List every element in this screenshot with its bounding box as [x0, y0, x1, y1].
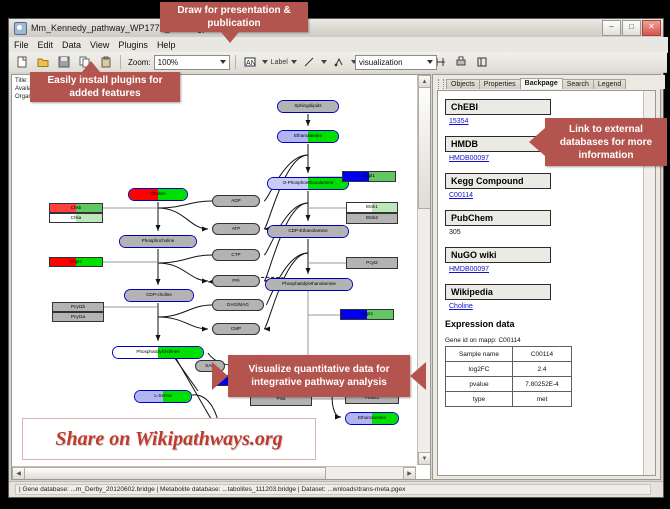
- callout-draw-arrow: [221, 32, 239, 43]
- print-icon[interactable]: [452, 53, 470, 71]
- toolbar-separator: [120, 55, 121, 69]
- layout-icon[interactable]: [473, 53, 491, 71]
- visualization-value: visualization: [359, 58, 403, 67]
- menu-help[interactable]: Help: [157, 40, 176, 50]
- cofactor-node-adp[interactable]: ADP: [212, 195, 260, 207]
- vertical-scroll-thumb[interactable]: [418, 87, 431, 209]
- node-label: Choline: [150, 192, 166, 197]
- metabolite-node-o-phosphoethanolamine[interactable]: O-Phosphoethanolamine: [267, 177, 349, 190]
- tab-search[interactable]: Search: [562, 79, 594, 89]
- interaction-icon[interactable]: [330, 53, 348, 71]
- pathway-canvas[interactable]: Title: Availa Organi: [12, 75, 416, 465]
- canvas-vertical-scrollbar[interactable]: ▲ ▼: [417, 75, 430, 465]
- node-label: Etnk1: [366, 205, 378, 210]
- scroll-right-button[interactable]: ▶: [403, 467, 416, 480]
- node-label: Pcyt1a: [71, 315, 85, 320]
- label-dropdown-label: Label: [271, 59, 288, 66]
- panel-drag-handle[interactable]: [438, 79, 444, 89]
- tab-legend[interactable]: Legend: [593, 79, 626, 89]
- gene-node-chka[interactable]: Chka: [49, 213, 103, 223]
- row-key: Sample name: [446, 347, 513, 362]
- table-row: type met: [446, 392, 572, 407]
- metabolite-node-phosphatidylethanolamine[interactable]: Phosphatidylethanolamine: [265, 278, 353, 291]
- pathway-edges: [12, 75, 416, 465]
- table-row: log2FC 2.4: [446, 362, 572, 377]
- table-row: pvalue 7.80252E-4: [446, 377, 572, 392]
- panel-tabs: Objects Properties Backpage Search Legen…: [433, 75, 665, 89]
- metabolite-node-ethanolamine[interactable]: Ethanolamine: [345, 412, 399, 425]
- menu-bar: File Edit Data View Plugins Help: [9, 37, 668, 53]
- expression-data-title: Expression data: [445, 319, 643, 329]
- gene-node-chpt1[interactable]: Chpt1: [49, 257, 103, 267]
- callout-links: Link to external databases for more info…: [545, 118, 667, 166]
- datanode-icon[interactable]: AN: [241, 53, 259, 71]
- row-key: type: [446, 392, 513, 407]
- scroll-down-button[interactable]: ▼: [418, 452, 431, 465]
- node-label: Pcyt1b: [71, 305, 85, 310]
- chebi-header: ChEBI: [445, 99, 551, 115]
- svg-text:AN: AN: [246, 60, 256, 67]
- chevron-down-icon-line[interactable]: [321, 60, 327, 64]
- callout-plugins-arrow: [82, 61, 100, 72]
- chevron-down-icon: [220, 60, 226, 64]
- node-label: Phosphatidylethanolamine: [282, 282, 336, 287]
- close-button[interactable]: ✕: [642, 20, 661, 36]
- app-icon: [14, 22, 27, 35]
- node-label: CTP: [231, 253, 240, 258]
- node-label: Pisd: [277, 397, 286, 402]
- row-value: 7.80252E-4: [513, 377, 572, 392]
- zoom-select[interactable]: 100%: [154, 55, 230, 70]
- visualization-select[interactable]: visualization: [355, 55, 437, 70]
- node-label: L-Serine: [154, 394, 171, 399]
- tab-objects[interactable]: Objects: [446, 79, 480, 89]
- callout-visualize: Visualize quantitative data for integrat…: [228, 355, 410, 397]
- metabolite-node-cdp-choline[interactable]: CDP-choline: [124, 289, 194, 302]
- chevron-down-icon-label[interactable]: [291, 60, 297, 64]
- menu-edit[interactable]: Edit: [38, 40, 54, 50]
- row-key: log2FC: [446, 362, 513, 377]
- gene-node-pcyt2[interactable]: Pcyt2: [346, 257, 398, 269]
- title-bar: Mm_Kennedy_pathway_WP1771_45176.gpml – □…: [9, 19, 663, 38]
- open-folder-icon[interactable]: [34, 53, 52, 71]
- node-label: PPi: [232, 279, 239, 284]
- metabolite-node-phosphocholine[interactable]: Phosphocholine: [119, 235, 197, 248]
- node-label: Ethanolamine: [294, 134, 322, 139]
- node-label: Sgpl1: [363, 174, 375, 179]
- menu-data[interactable]: Data: [62, 40, 81, 50]
- cofactor-node-ctp[interactable]: CTP: [212, 249, 260, 261]
- maximize-button[interactable]: □: [622, 20, 641, 36]
- row-value: C00114: [513, 347, 572, 362]
- toolbar-separator-2: [235, 55, 236, 69]
- new-file-icon[interactable]: [13, 53, 31, 71]
- cofactor-node-cmp[interactable]: CMP: [212, 323, 260, 335]
- wikipedia-link[interactable]: Choline: [449, 303, 643, 310]
- gene-node-pcyt1b[interactable]: Pcyt1b: [52, 302, 104, 312]
- metabolite-node-phosphatidylcholines[interactable]: Phosphatidylcholines: [112, 346, 204, 359]
- node-label: O-Phosphoethanolamine: [283, 181, 334, 186]
- chevron-down-icon-datanode[interactable]: [262, 60, 268, 64]
- cofactor-node-dag-mag[interactable]: DAG/MAG: [212, 299, 264, 311]
- line-icon[interactable]: [300, 53, 318, 71]
- zoom-label: Zoom:: [128, 58, 151, 67]
- status-text: | Gene database: ...m_Derby_20120602.bri…: [15, 484, 651, 495]
- canvas-horizontal-scrollbar[interactable]: ◀ ▶: [12, 466, 416, 479]
- toolbar: Zoom: 100% AN Label visua: [9, 52, 667, 73]
- metabolite-node-choline[interactable]: Choline: [128, 188, 188, 201]
- gene-node-cept1[interactable]: Cept1: [340, 309, 394, 320]
- horizontal-scroll-thumb[interactable]: [24, 467, 326, 480]
- node-label: Etnk2: [366, 216, 378, 221]
- callout-visualize-arrow-right: [410, 362, 426, 390]
- node-label: ATP: [232, 227, 241, 232]
- metabolite-node-ethanolamine[interactable]: Ethanolamine: [277, 130, 339, 143]
- kegg-link[interactable]: C00114: [449, 192, 643, 199]
- metabolite-node-l-serine[interactable]: L-Serine: [134, 390, 192, 403]
- kegg-header: Kegg Compound: [445, 173, 551, 189]
- status-bar: | Gene database: ...m_Derby_20120602.bri…: [9, 481, 663, 497]
- node-label: Cept1: [361, 312, 373, 317]
- node-label: Chka: [71, 216, 82, 221]
- tab-backpage[interactable]: Backpage: [520, 78, 563, 89]
- gene-node-etnk2[interactable]: Etnk2: [346, 213, 398, 224]
- cofactor-node-ppi[interactable]: PPi: [212, 275, 260, 287]
- pubchem-value: 305: [449, 229, 643, 236]
- node-label: Phosphatidylcholines: [136, 350, 179, 355]
- save-icon[interactable]: [55, 53, 73, 71]
- menu-view[interactable]: View: [90, 40, 109, 50]
- node-label: CDP-Ethanolamine: [288, 229, 327, 234]
- wikipedia-header: Wikipedia: [445, 284, 551, 300]
- menu-file[interactable]: File: [14, 40, 29, 50]
- tab-properties[interactable]: Properties: [479, 79, 521, 89]
- callout-share: Share on Wikipathways.org: [22, 418, 316, 460]
- node-label: ADP: [231, 199, 240, 204]
- gene-node-sgpl1[interactable]: Sgpl1: [342, 171, 396, 182]
- gene-node-pcyt1a[interactable]: Pcyt1a: [52, 312, 104, 322]
- minimize-button[interactable]: –: [602, 20, 621, 36]
- callout-plugins: Easily install plugins for added feature…: [30, 72, 180, 102]
- menu-plugins[interactable]: Plugins: [118, 40, 148, 50]
- gene-id-line: Gene id on mapp: C00114: [445, 337, 643, 344]
- nugo-header: NuGO wiki: [445, 247, 551, 263]
- nugo-link[interactable]: HMDB00097: [449, 266, 643, 273]
- callout-links-arrow: [529, 128, 545, 156]
- callout-visualize-arrow-left: [212, 362, 228, 390]
- metabolite-node-sphingolipids[interactable]: Sphingolipids: [277, 100, 339, 113]
- screenshot-root: Mm_Kennedy_pathway_WP1771_45176.gpml – □…: [0, 0, 670, 509]
- node-label: Chkb: [71, 206, 82, 211]
- row-value: 2.4: [513, 362, 572, 377]
- gene-node-chkb[interactable]: Chkb: [49, 203, 103, 213]
- pubchem-header: PubChem: [445, 210, 551, 226]
- expression-data-table: Sample name C00114 log2FC 2.4 pvalue 7.8…: [445, 346, 572, 407]
- metabolite-node-cdp-ethanolamine[interactable]: CDP-Ethanolamine: [267, 225, 349, 238]
- callout-draw: Draw for presentation & publication: [160, 2, 308, 32]
- node-label: Chpt1: [70, 260, 82, 265]
- node-label: Sphingolipids: [294, 104, 321, 109]
- row-value: met: [513, 392, 572, 407]
- cofactor-node-atp[interactable]: ATP: [212, 223, 260, 235]
- table-row: Sample name C00114: [446, 347, 572, 362]
- node-label: DAG/MAG: [227, 303, 249, 308]
- node-label: Ethanolamine: [358, 416, 386, 421]
- gene-node-etnk1[interactable]: Etnk1: [346, 202, 398, 213]
- zoom-value: 100%: [158, 58, 178, 67]
- chevron-down-icon-visualization: [427, 60, 433, 64]
- node-label: CMP: [231, 327, 241, 332]
- window-controls: – □ ✕: [602, 20, 661, 36]
- node-label: CDP-choline: [146, 293, 172, 298]
- node-label: Pcyt2: [366, 261, 378, 266]
- row-key: pvalue: [446, 377, 513, 392]
- node-label: Phosphocholine: [142, 239, 175, 244]
- share-text: Share on Wikipathways.org: [55, 428, 282, 451]
